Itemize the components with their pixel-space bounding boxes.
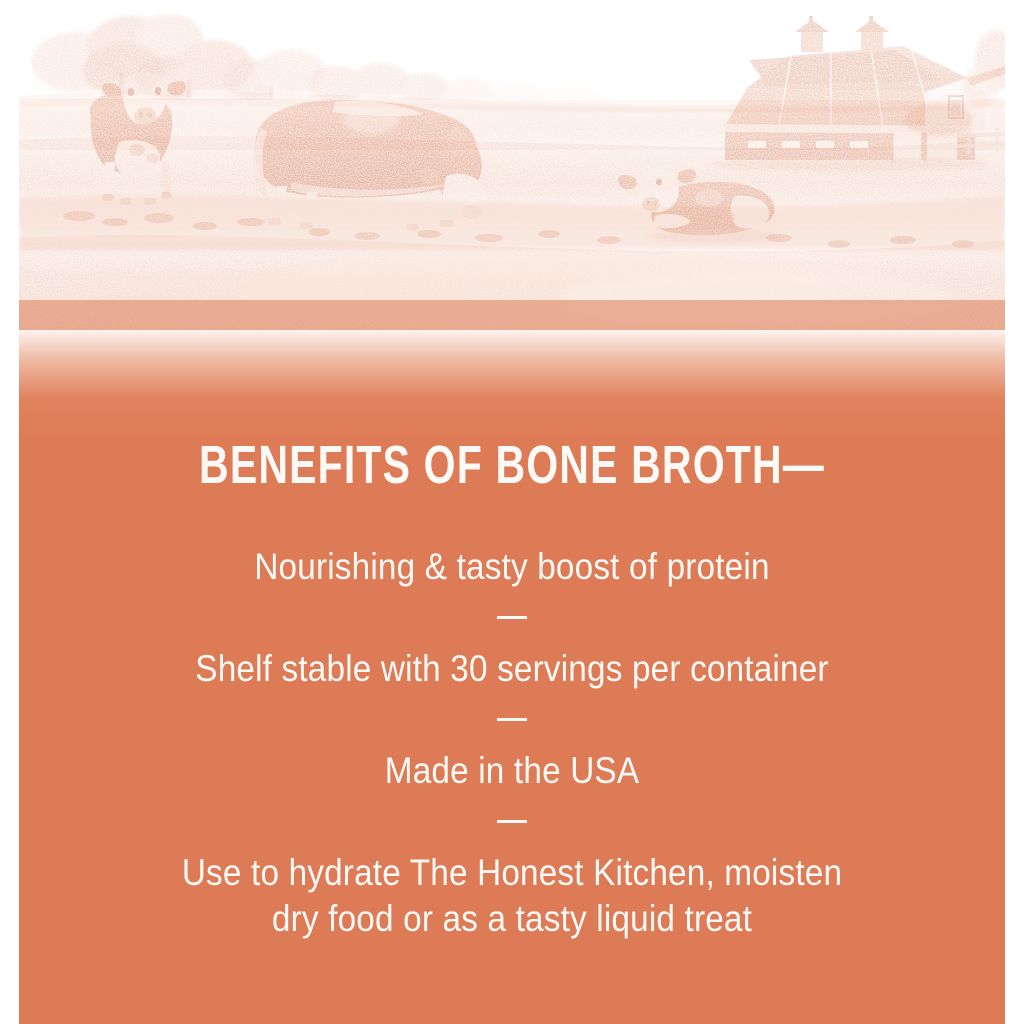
benefit-item-shelf-stable: Shelf stable with 30 servings per contai…	[107, 646, 917, 691]
benefits-content: BENEFITS OF BONE BROTH— Nourishing & tas…	[19, 330, 1005, 941]
benefit-separator	[497, 718, 527, 721]
product-info-panel: BENEFITS OF BONE BROTH— Nourishing & tas…	[0, 0, 1024, 1024]
benefit-separator	[497, 820, 527, 823]
benefit-item-protein: Nourishing & tasty boost of protein	[107, 544, 917, 589]
benefit-item-usage: Use to hydrate The Honest Kitchen, moist…	[107, 850, 917, 940]
benefits-panel: BENEFITS OF BONE BROTH— Nourishing & tas…	[19, 330, 1005, 1024]
benefit-separator	[497, 616, 527, 619]
benefits-heading: BENEFITS OF BONE BROTH—	[137, 438, 886, 492]
benefit-item-made-in-usa: Made in the USA	[107, 748, 917, 793]
